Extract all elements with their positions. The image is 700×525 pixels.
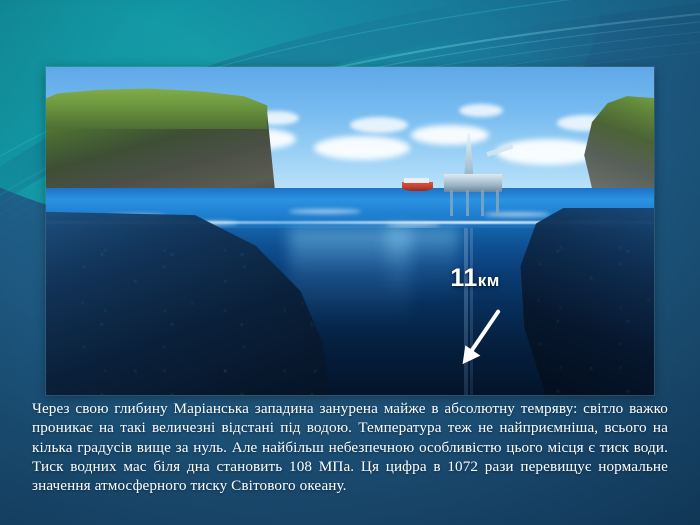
oil-rig-leg — [481, 190, 484, 216]
cargo-ship — [402, 182, 434, 191]
oil-rig-leg — [450, 190, 453, 216]
depth-arrow-icon — [435, 306, 520, 372]
oil-rig-leg — [466, 190, 469, 216]
cargo-ship-deck — [404, 178, 430, 183]
slide-canvas: 11км Через свою глибину Маріанська запад… — [0, 0, 700, 525]
caption-paragraph: Через свою глибину Маріанська западина з… — [32, 399, 668, 495]
oil-rig-leg — [496, 190, 499, 216]
depth-annotation-label: 11км — [450, 264, 500, 293]
depth-value: 11 — [450, 264, 477, 292]
oil-rig-platform — [444, 174, 502, 192]
depth-unit: км — [478, 271, 500, 290]
trench-illustration: 11км — [46, 67, 654, 395]
light-shaft — [386, 228, 459, 300]
